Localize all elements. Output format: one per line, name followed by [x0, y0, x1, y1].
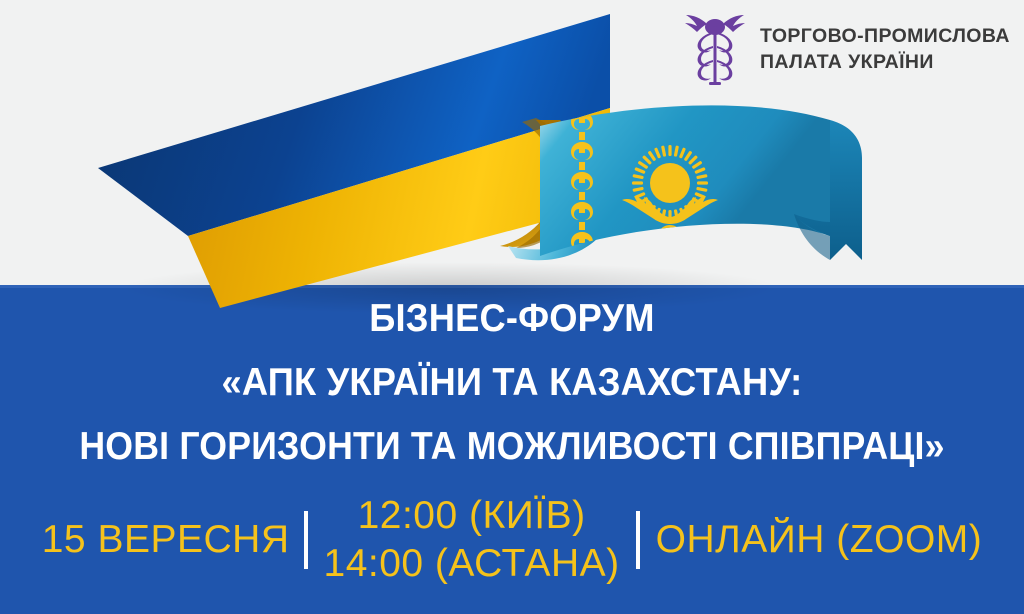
title-line-1: БІЗНЕС-ФОРУМ: [36, 296, 988, 341]
event-date: 15 ВЕРЕСНЯ: [42, 518, 304, 562]
logo-line-2: ПАЛАТА УКРАЇНИ: [760, 50, 1010, 76]
title-line-2: «АПК УКРАЇНИ ТА КАЗАХСТАНУ:: [36, 360, 988, 405]
event-time-astana: 14:00 (АСТАНА): [324, 540, 620, 588]
event-title: БІЗНЕС-ФОРУМ «АПК УКРАЇНИ ТА КАЗАХСТАНУ:…: [0, 296, 1024, 470]
event-details-bar: 15 ВЕРЕСНЯ 12:00 (КИЇВ) 14:00 (АСТАНА) О…: [0, 492, 1024, 587]
title-line-3: НОВІ ГОРИЗОНТИ ТА МОЖЛИВОСТІ СПІВПРАЦІ»: [44, 424, 981, 469]
event-time-kyiv: 12:00 (КИЇВ): [324, 492, 620, 540]
caduceus-winged-icon: [684, 10, 746, 90]
logo-line-1: ТОРГОВО-ПРОМИСЛОВА: [760, 25, 1010, 47]
event-format: ОНЛАЙН (ZOOM): [640, 518, 983, 562]
event-announcement-banner: ТОРГОВО-ПРОМИСЛОВА ПАЛАТА УКРАЇНИ БІЗНЕС…: [0, 0, 1024, 614]
event-times: 12:00 (КИЇВ) 14:00 (АСТАНА): [308, 492, 636, 587]
logo-wordmark: ТОРГОВО-ПРОМИСЛОВА ПАЛАТА УКРАЇНИ: [760, 24, 1010, 75]
chamber-of-commerce-logo: ТОРГОВО-ПРОМИСЛОВА ПАЛАТА УКРАЇНИ: [684, 10, 1010, 90]
kazakhstan-flag-panel: [540, 105, 862, 280]
